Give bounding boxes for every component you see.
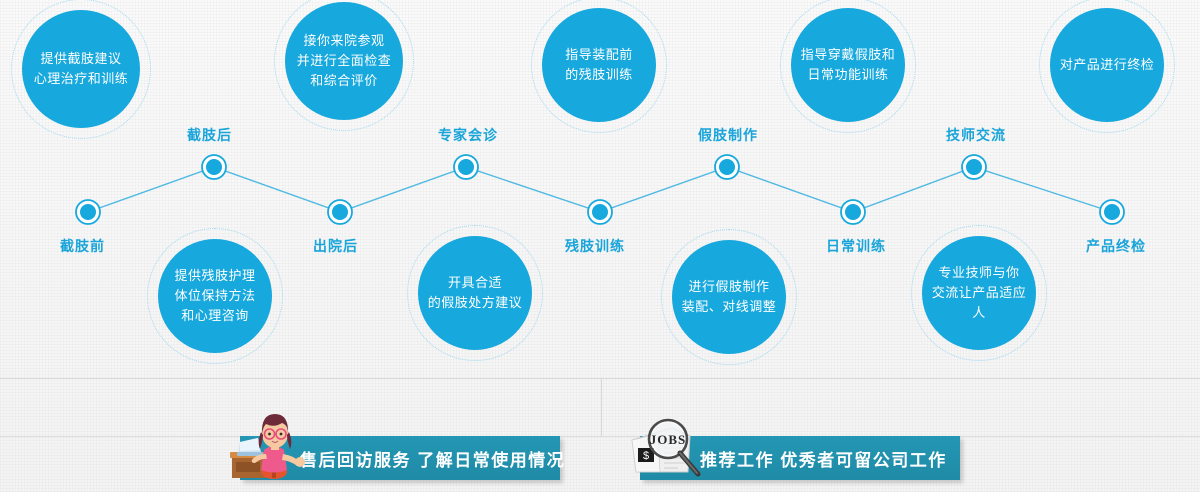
timeline-node-0[interactable] <box>76 200 100 224</box>
jobs-word: JOBS <box>650 432 687 447</box>
bubble-manufacture[interactable]: 进行假肢制作 装配、对线调整 <box>672 240 786 354</box>
bubble-wear-training[interactable]: 指导穿戴假肢和 日常功能训练 <box>791 8 905 122</box>
node-dot <box>458 159 474 175</box>
node-dot <box>845 204 861 220</box>
bubble-manufacture-text: 进行假肢制作 装配、对线调整 <box>676 277 783 317</box>
magnifier-newspaper-jobs-illustration: $ JOBS <box>628 414 714 484</box>
bubble-pre-fit-training-text: 指导装配前 的残肢训练 <box>559 45 639 85</box>
woman-at-desk-illustration <box>228 412 312 486</box>
bubble-wear-training-text: 指导穿戴假肢和 日常功能训练 <box>795 45 902 85</box>
bubble-stump-care[interactable]: 提供残肢护理 体位保持方法 和心理咨询 <box>158 239 272 353</box>
bubble-stump-care-text: 提供残肢护理 体位保持方法 和心理咨询 <box>168 266 261 326</box>
node-dot <box>966 159 982 175</box>
timeline-node-6[interactable] <box>841 200 865 224</box>
node-dot <box>592 204 608 220</box>
timeline-node-8[interactable] <box>1100 200 1124 224</box>
node-dot <box>1104 204 1120 220</box>
node-label-8: 产品终检 <box>1086 236 1146 256</box>
bubble-pre-fit-training[interactable]: 指导装配前 的残肢训练 <box>542 8 656 122</box>
node-label-1: 截肢后 <box>187 125 232 145</box>
node-label-5: 假肢制作 <box>698 125 758 145</box>
node-label-6: 日常训练 <box>826 236 886 256</box>
bubble-hospital-visit-text: 接你来院参观 并进行全面检查 和综合评价 <box>291 31 398 91</box>
timeline-node-3[interactable] <box>454 155 478 179</box>
node-label-3: 专家会诊 <box>438 125 498 145</box>
bubble-hospital-visit[interactable]: 接你来院参观 并进行全面检查 和综合评价 <box>285 2 403 120</box>
bubble-technician-talk[interactable]: 专业技师与你 交流让产品适应人 <box>922 236 1036 350</box>
node-label-4: 残肢训练 <box>565 236 625 256</box>
banner-baseline-rule <box>0 436 1200 437</box>
node-label-0: 截肢前 <box>60 236 105 256</box>
node-dot <box>206 159 222 175</box>
infographic-stage: 提供截肢建议 心理治疗和训练接你来院参观 并进行全面检查 和综合评价指导装配前 … <box>0 0 1200 492</box>
bubble-amputation-advice[interactable]: 提供截肢建议 心理治疗和训练 <box>22 10 140 128</box>
bubble-prescription[interactable]: 开具合适 的假肢处方建议 <box>418 236 532 350</box>
timeline-node-1[interactable] <box>202 155 226 179</box>
node-dot <box>332 204 348 220</box>
timeline-node-7[interactable] <box>962 155 986 179</box>
node-dot <box>80 204 96 220</box>
timeline-node-5[interactable] <box>715 155 739 179</box>
node-label-2: 出院后 <box>313 236 358 256</box>
node-label-7: 技师交流 <box>946 125 1006 145</box>
bubble-final-inspection[interactable]: 对产品进行终检 <box>1050 8 1164 122</box>
section-divider-horizontal <box>0 378 1200 379</box>
timeline-node-4[interactable] <box>588 200 612 224</box>
svg-text:$: $ <box>643 450 649 462</box>
timeline-node-2[interactable] <box>328 200 352 224</box>
bubble-amputation-advice-text: 提供截肢建议 心理治疗和训练 <box>28 49 135 89</box>
bubble-technician-talk-text: 专业技师与你 交流让产品适应人 <box>922 263 1036 323</box>
bubble-final-inspection-text: 对产品进行终检 <box>1054 55 1161 75</box>
node-dot <box>719 159 735 175</box>
section-divider-vertical <box>601 378 602 436</box>
bubble-prescription-text: 开具合适 的假肢处方建议 <box>422 273 529 313</box>
